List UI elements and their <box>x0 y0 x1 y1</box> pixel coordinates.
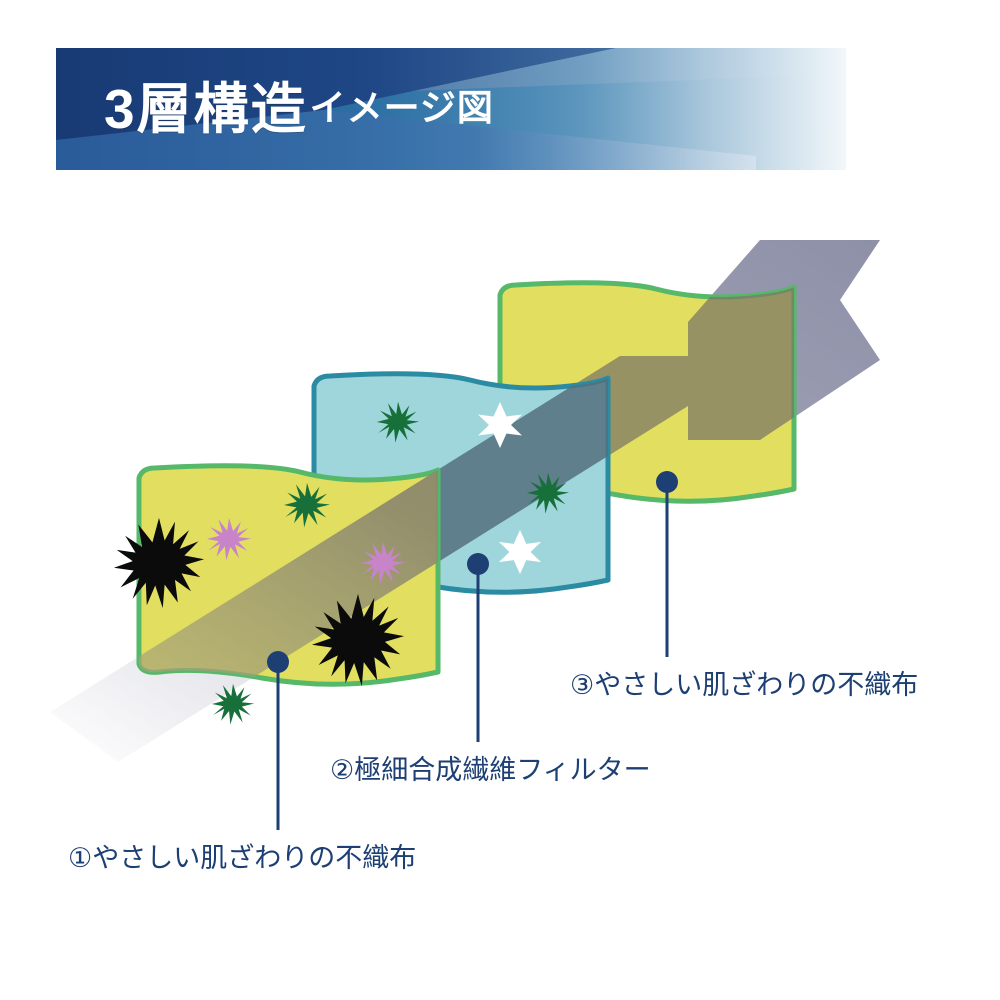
callout-label-2: ②極細合成繊維フィルター <box>330 748 651 787</box>
diagram-canvas: 3層構造 イメージ図 <box>0 0 1000 1000</box>
callout-label-3: ③やさしい肌ざわりの不織布 <box>570 663 918 702</box>
callout-3-dot <box>656 471 678 493</box>
callout-1-dot <box>267 651 289 673</box>
callout-2-dot <box>467 553 489 575</box>
callout-label-1: ①やさしい肌ざわりの不織布 <box>68 836 416 875</box>
